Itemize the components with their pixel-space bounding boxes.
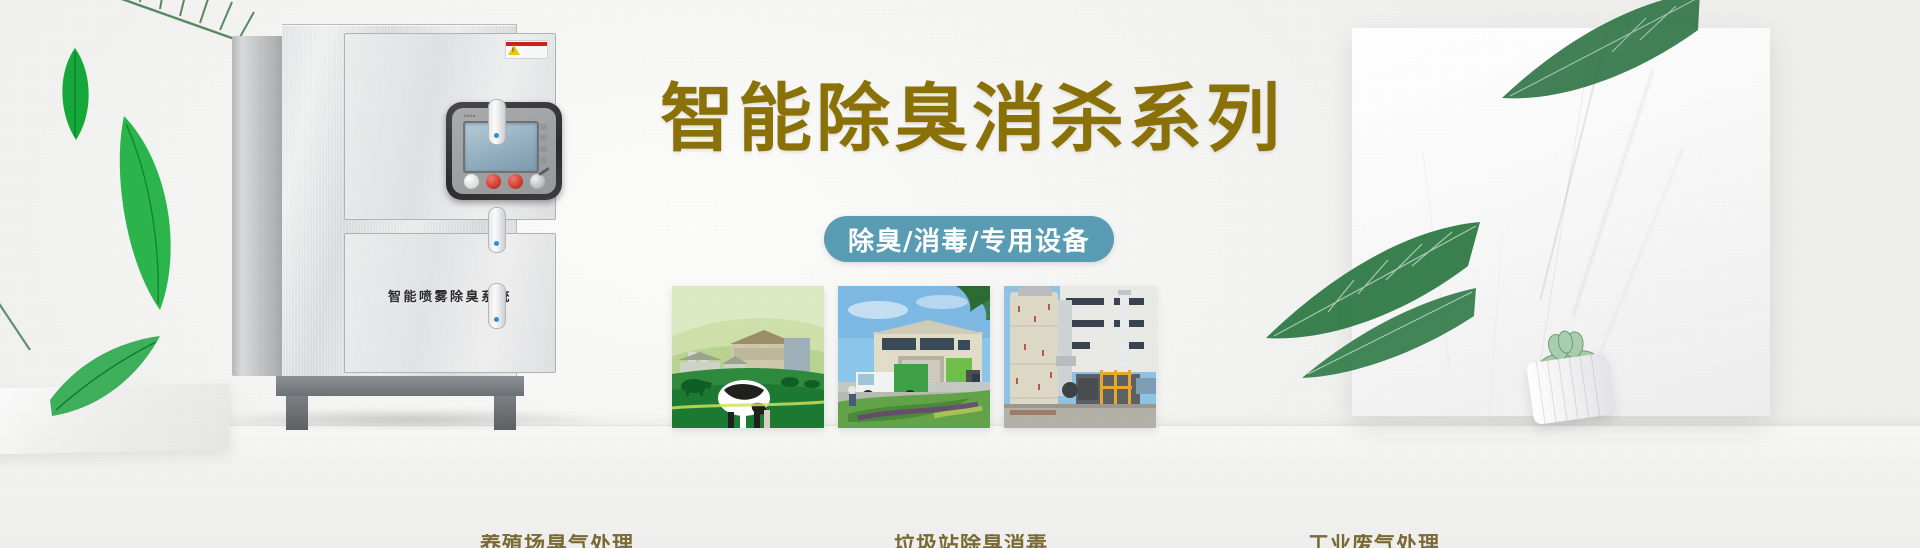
hmi-brand-label: Delta: [464, 113, 475, 118]
caption-item: 工业废气处理: [1308, 534, 1440, 548]
caption-row: 养殖场臭气处理 垃圾站除臭消毒 工业废气处理: [0, 534, 1920, 548]
door-handle-lower[interactable]: [488, 283, 506, 329]
small-green-leaf-icon: [52, 46, 98, 142]
plant-pot: [1526, 353, 1614, 426]
caption-item: 垃圾站除臭消毒: [894, 534, 1048, 548]
warning-sticker: [505, 40, 548, 59]
palm-leaf-secondary-icon: [0, 120, 180, 350]
waste-gas-plant-photo[interactable]: [1004, 286, 1156, 428]
caption-item: 养殖场臭气处理: [480, 534, 634, 548]
succulent-plant: [1514, 322, 1622, 426]
machine-panel-label: 智能喷雾除臭系统: [345, 286, 555, 305]
cabinet-leg-left: [286, 396, 308, 430]
cabinet-leg-right: [494, 396, 516, 430]
door-handle-middle[interactable]: [488, 207, 506, 253]
warning-triangle-icon: [508, 45, 520, 55]
dairy-farm-photo[interactable]: [672, 286, 824, 428]
transfer-station-photo[interactable]: [838, 286, 990, 428]
banana-leaf-icon: [1262, 170, 1482, 380]
lower-door[interactable]: 智能喷雾除臭系统: [344, 233, 556, 373]
cabinet-plinth: [276, 376, 524, 396]
selector-knob[interactable]: [530, 174, 545, 189]
ground-surface: [0, 425, 1920, 548]
status-badge: 除臭/消毒/专用设备: [824, 216, 1114, 262]
cabinet-front-panel: Delta 智能喷雾除臭系统: [282, 24, 517, 378]
emergency-stop-button-2[interactable]: [508, 174, 523, 189]
deodorization-machine: Delta 智能喷雾除臭系统: [232, 24, 578, 430]
cabinet-side-panel: [232, 36, 286, 376]
upper-door[interactable]: Delta: [344, 33, 556, 220]
photo-strip: [672, 286, 1156, 428]
page-title: 智能除臭消杀系列: [660, 78, 1320, 160]
long-green-leaf-icon: [108, 112, 188, 312]
indicator-lamp-white[interactable]: [464, 174, 479, 189]
hero-banner: Delta 智能喷雾除臭系统: [0, 0, 1920, 548]
left-marble-slab: [0, 383, 230, 454]
door-handle-upper[interactable]: [488, 99, 506, 145]
hmi-side-keys[interactable]: [540, 124, 547, 168]
emergency-stop-button-1[interactable]: [486, 174, 501, 189]
banana-leaf-top-icon: [1500, 0, 1700, 130]
